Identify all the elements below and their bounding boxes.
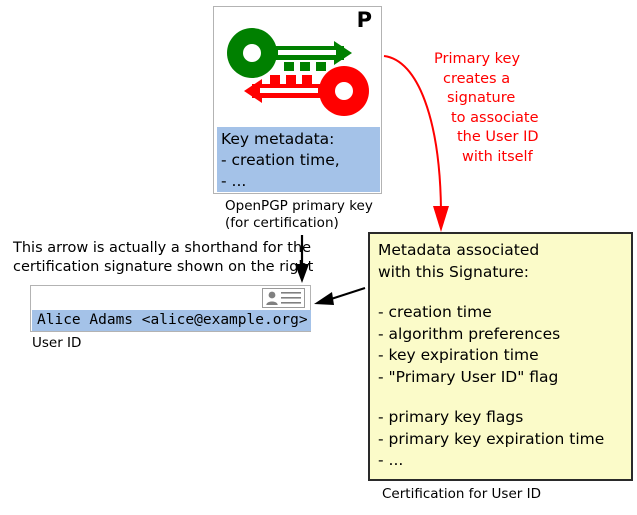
- certification-item-3: - "Primary User ID" flag: [378, 367, 631, 389]
- userid-value: Alice Adams <alice@example.org>: [32, 310, 311, 331]
- red-signature-arrow: [384, 56, 441, 210]
- key-metadata-line-1: - creation time,: [221, 150, 380, 171]
- certification-item-6: - ...: [378, 450, 631, 472]
- certification-caption: Certification for User ID: [382, 486, 541, 503]
- red-annotation-line-3: to associate: [434, 109, 569, 129]
- shorthand-annotation-line-1: certification signature shown on the rig…: [13, 258, 313, 277]
- certification-spacer-1: [378, 283, 631, 302]
- certification-to-userid-arrow: [328, 288, 365, 300]
- red-annotation-line-0: Primary key: [434, 50, 569, 70]
- certification-item-4: - primary key flags: [378, 407, 631, 429]
- primary-key-caption-line-1: (for certification): [225, 215, 373, 232]
- certification-title-line-0: Metadata associated: [378, 240, 631, 262]
- key-metadata-line-0: Key metadata:: [221, 129, 380, 150]
- shorthand-annotation: This arrow is actually a shorthand for t…: [13, 239, 313, 277]
- certification-title-line-1: with this Signature:: [378, 262, 631, 284]
- certification-item-2: - key expiration time: [378, 345, 631, 367]
- key-metadata-panel: Key metadata: - creation time, - ...: [217, 127, 380, 192]
- certification-to-userid-arrowhead: [314, 292, 334, 305]
- primary-key-caption: OpenPGP primary key (for certification): [225, 198, 373, 232]
- key-pair-icon: [222, 25, 374, 121]
- id-card-icon: [262, 288, 305, 308]
- certification-item-5: - primary key expiration time: [378, 429, 631, 451]
- key-metadata-line-2: - ...: [221, 171, 380, 192]
- certification-spacer-2: [378, 388, 631, 407]
- red-annotation-line-2: signature: [434, 89, 569, 109]
- certification-box: Metadata associated with this Signature:…: [368, 232, 633, 481]
- userid-caption: User ID: [32, 335, 81, 352]
- certification-item-0: - creation time: [378, 302, 631, 324]
- red-signature-arrowhead: [433, 206, 449, 232]
- red-annotation-line-1: creates a: [434, 70, 569, 90]
- red-annotation-line-5: with itself: [434, 148, 569, 168]
- diagram-canvas: P: [0, 0, 637, 515]
- certification-item-1: - algorithm preferences: [378, 324, 631, 346]
- shorthand-annotation-line-0: This arrow is actually a shorthand for t…: [13, 239, 313, 258]
- userid-card: Alice Adams <alice@example.org>: [30, 285, 311, 332]
- primary-key-caption-line-0: OpenPGP primary key: [225, 198, 373, 215]
- primary-key-card: P: [213, 6, 382, 194]
- red-annotation-line-4: the User ID: [434, 128, 569, 148]
- red-annotation: Primary key creates a signature to assoc…: [434, 50, 569, 167]
